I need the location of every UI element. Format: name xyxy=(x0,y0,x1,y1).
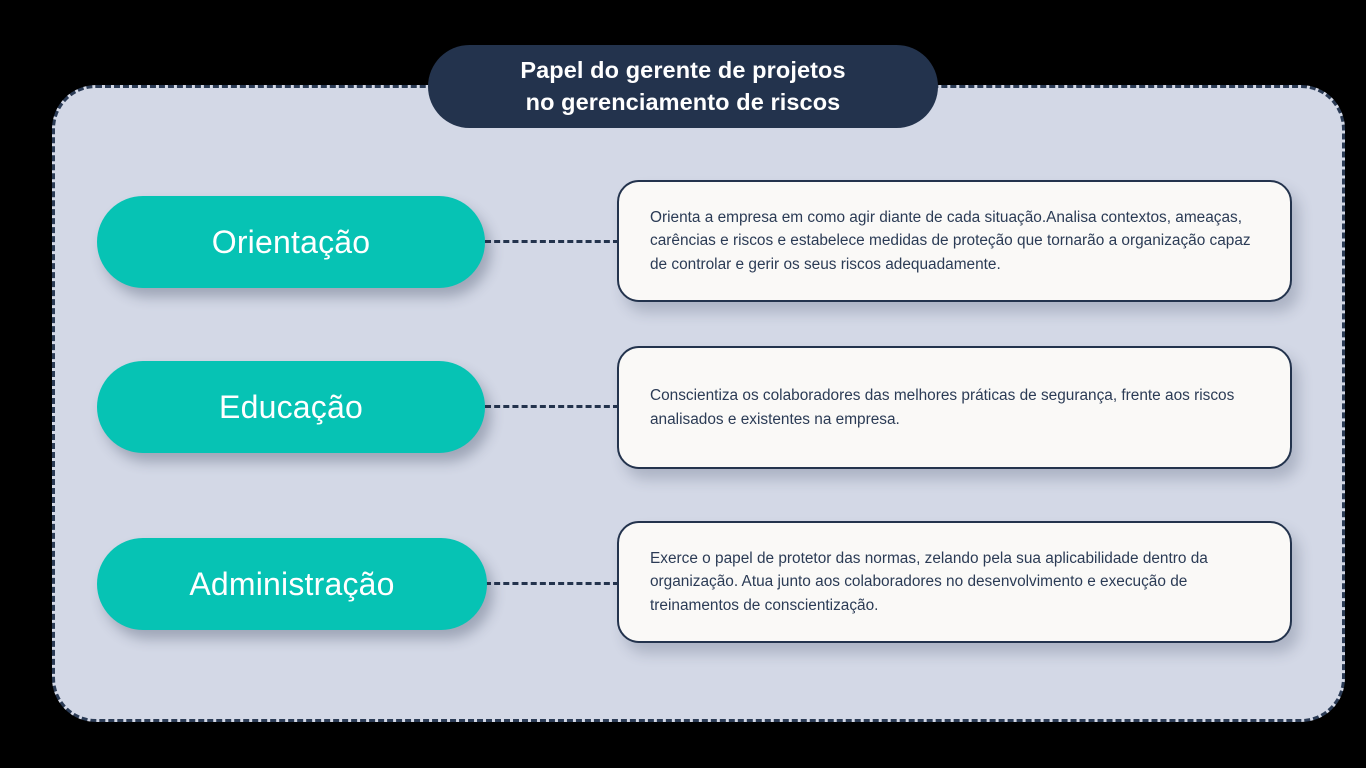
category-pill-administracao[interactable]: Administração xyxy=(97,538,487,630)
dashed-connector xyxy=(485,582,619,585)
title-badge: Papel do gerente de projetos no gerencia… xyxy=(428,45,938,128)
description-box-educacao: Conscientiza os colaboradores das melhor… xyxy=(617,346,1292,469)
description-text: Orienta a empresa em como agir diante de… xyxy=(619,206,1290,276)
description-box-orientacao: Orienta a empresa em como agir diante de… xyxy=(617,180,1292,302)
category-pill-label: Administração xyxy=(189,566,394,603)
description-text: Conscientiza os colaboradores das melhor… xyxy=(619,384,1290,431)
description-box-administracao: Exerce o papel de protetor das normas, z… xyxy=(617,521,1292,643)
dashed-connector xyxy=(485,405,619,408)
category-pill-label: Orientação xyxy=(212,224,371,261)
category-pill-label: Educação xyxy=(219,389,363,426)
diagram-canvas: Papel do gerente de projetos no gerencia… xyxy=(0,0,1366,768)
description-text: Exerce o papel de protetor das normas, z… xyxy=(619,547,1290,617)
page-title: Papel do gerente de projetos no gerencia… xyxy=(496,55,869,117)
category-pill-orientacao[interactable]: Orientação xyxy=(97,196,485,288)
dashed-connector xyxy=(485,240,619,243)
category-pill-educacao[interactable]: Educação xyxy=(97,361,485,453)
